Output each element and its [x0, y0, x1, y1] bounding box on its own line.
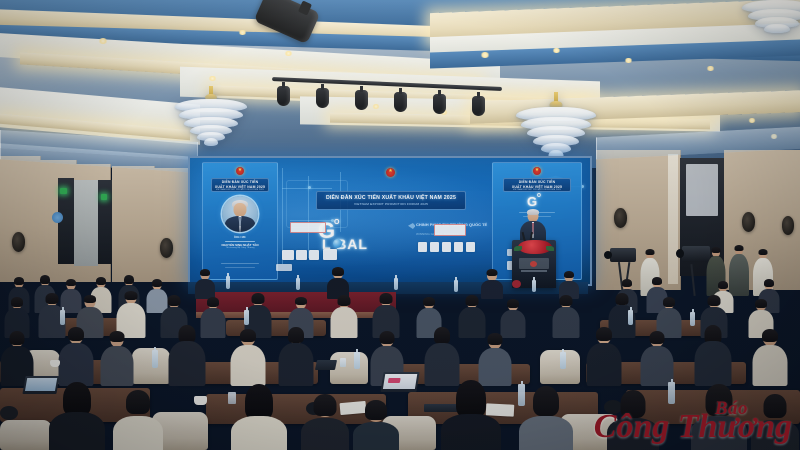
- left-panel-speaker-role: ÔNG / MR.: [213, 236, 267, 240]
- water-bottle: [668, 382, 675, 404]
- left-wall: [0, 150, 192, 282]
- doorway: [98, 180, 112, 264]
- attendee-front: [352, 402, 400, 450]
- national-emblem: [386, 168, 395, 177]
- stage-spotlight: [433, 94, 446, 114]
- stage-spotlight: [394, 92, 407, 112]
- sponsor-logo-1: [290, 222, 326, 233]
- sponsor-logo-2: [282, 250, 294, 260]
- attendee-front: [518, 388, 574, 450]
- downlight: [748, 118, 756, 123]
- water-bottle: [60, 310, 65, 325]
- water-bottle: [628, 310, 633, 325]
- headphones: [0, 406, 18, 420]
- flower-leaf: [514, 246, 522, 251]
- conference-hall-photo: DIỄN ĐÀN XÚC TIẾN XUẤT KHẨU VIỆT NAM 202…: [0, 0, 800, 450]
- attendee-front: [606, 392, 660, 450]
- downlight: [372, 104, 380, 109]
- wall-sconce: [742, 212, 755, 232]
- speaker-hair: [527, 209, 539, 215]
- sponsor-logo-r2: [418, 242, 427, 252]
- right-panel-go-o: O: [537, 194, 541, 199]
- attendee-front: [230, 386, 288, 450]
- left-panel-speaker-title: Thứ trưởng Bộ Công Thương: [213, 247, 267, 250]
- sponsor-logo-r3: [430, 242, 439, 252]
- fan-icon: [52, 212, 63, 223]
- downlight: [706, 66, 715, 71]
- chandelier-far-right: [742, 0, 800, 34]
- speaker-portrait: [222, 196, 258, 232]
- chandelier-left: [168, 86, 254, 148]
- wall-sconce: [160, 238, 173, 258]
- downlight: [284, 51, 293, 56]
- downlight: [552, 48, 561, 53]
- water-bottle: [244, 310, 249, 325]
- stage-spotlight: [355, 90, 368, 110]
- stage-spotlight: [277, 86, 290, 106]
- exit-sign: [101, 194, 107, 200]
- wall-sconce: [614, 208, 627, 228]
- sponsor-logo-r6: [466, 242, 475, 252]
- chandelier-right: [508, 92, 604, 162]
- flower-leaf: [546, 246, 554, 251]
- downlight: [208, 76, 217, 81]
- video-camera: [610, 248, 636, 262]
- left-panel-subtitle: VIETNAM EXPORT PROMOTION FORUM 2025: [212, 189, 268, 192]
- water-bottle: [690, 312, 695, 326]
- attendee-front: [750, 396, 800, 450]
- attendee-front: [48, 384, 106, 450]
- downlight: [98, 38, 108, 44]
- sponsor-logo-r4: [442, 242, 451, 252]
- sponsor-logo-r1: [434, 224, 466, 236]
- attendee-front: [112, 392, 164, 450]
- attendee-front: [440, 382, 502, 450]
- globe-icon: [333, 239, 342, 248]
- wall-sconce: [12, 232, 25, 252]
- main-title-plate: DIỄN ĐÀN XÚC TIẾN XUẤT KHẨU VIỆT NAM 202…: [316, 191, 466, 210]
- sponsor-logo-r5: [454, 242, 463, 252]
- attendee-front: [300, 396, 350, 450]
- camera-lens: [604, 251, 612, 259]
- sponsor-logo-3: [296, 250, 307, 260]
- sponsor-logo-4: [309, 250, 319, 260]
- chair: [0, 420, 52, 450]
- main-title-vn: DIỄN ĐÀN XÚC TIẾN XUẤT KHẨU VIỆT NAM 202…: [317, 195, 465, 202]
- screen-left-panel: DIỄN ĐÀN XÚC TIẾN XUẤT KHẨU VIỆT NAM 202…: [202, 162, 278, 280]
- wall-artwork: [686, 164, 718, 216]
- attendee-front: [690, 386, 748, 450]
- podium-emblem: [530, 261, 537, 267]
- coffee-cup: [194, 396, 207, 405]
- exit-sign: [60, 188, 67, 194]
- main-title-en: VIETNAM EXPORT PROMOTION FORUM 2025: [317, 202, 465, 207]
- sponsor-logo-5: [323, 249, 337, 260]
- stage-spotlight: [316, 88, 329, 108]
- national-emblem-right: [533, 167, 541, 175]
- national-emblem-left: [236, 167, 244, 175]
- go-global-o-superscript: O: [334, 219, 340, 226]
- stage-spotlight: [472, 96, 485, 116]
- laptop: [380, 372, 419, 392]
- glass-door-panel: [74, 180, 98, 266]
- camera-lens: [676, 249, 684, 258]
- right-panel-subtitle: VIETNAM EXPORT PROMOTION FORUM 2025: [504, 189, 570, 192]
- downlight: [238, 30, 247, 35]
- audience-row-front: [0, 366, 800, 450]
- downlight: [480, 52, 490, 58]
- downlight: [624, 58, 633, 63]
- wall-sconce: [782, 216, 794, 235]
